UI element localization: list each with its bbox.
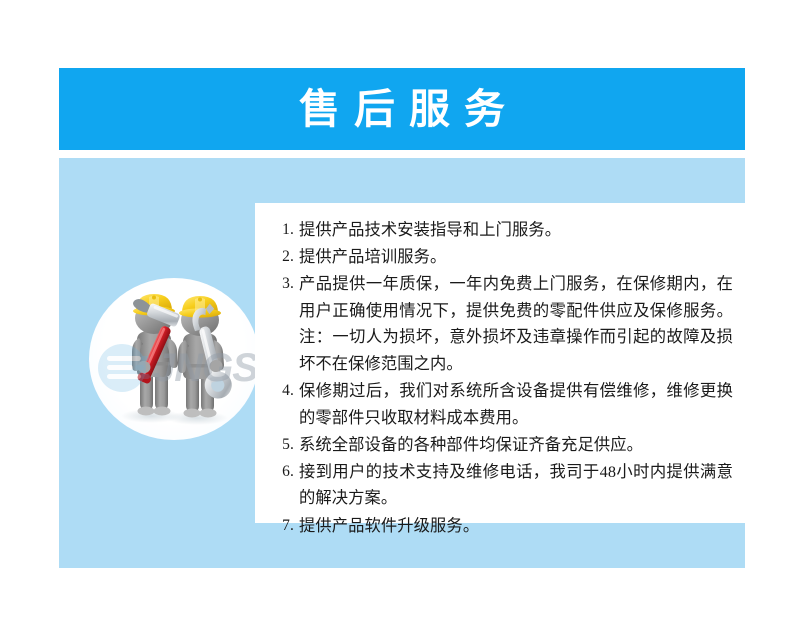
- list-item: 接到用户的技术支持及维修电话，我司于48小时内提供满意的解决方案。: [299, 459, 733, 512]
- page-banner: 售后服务: [59, 68, 745, 150]
- worker-with-hammer: [130, 294, 180, 416]
- list-item: 提供产品软件升级服务。: [299, 513, 733, 540]
- worker-with-wrench: [178, 296, 236, 418]
- list-item: 提供产品技术安装指导和上门服务。: [299, 217, 733, 244]
- page-title: 售后服务: [285, 89, 519, 130]
- service-illustration: [89, 278, 259, 440]
- service-list-card: 提供产品技术安装指导和上门服务。 提供产品培训服务。 产品提供一年质保，一年内免…: [255, 203, 745, 523]
- list-item: 保修期过后，我们对系统所含设备提供有偿维修，维修更换的零部件只收取材料成本费用。: [299, 378, 733, 431]
- workers-with-tools-icon: [89, 278, 259, 440]
- content-panel: JNGSEE 提供产品技术安装指导和上门服务。 提供产品培训服务。 产品提供一年…: [59, 158, 745, 568]
- service-list: 提供产品技术安装指导和上门服务。 提供产品培训服务。 产品提供一年质保，一年内免…: [255, 203, 745, 539]
- list-item: 提供产品培训服务。: [299, 244, 733, 271]
- list-item: 系统全部设备的各种部件均保证齐备充足供应。: [299, 432, 733, 459]
- list-item: 产品提供一年质保，一年内免费上门服务，在保修期内，在用户正确使用情况下，提供免费…: [299, 271, 733, 377]
